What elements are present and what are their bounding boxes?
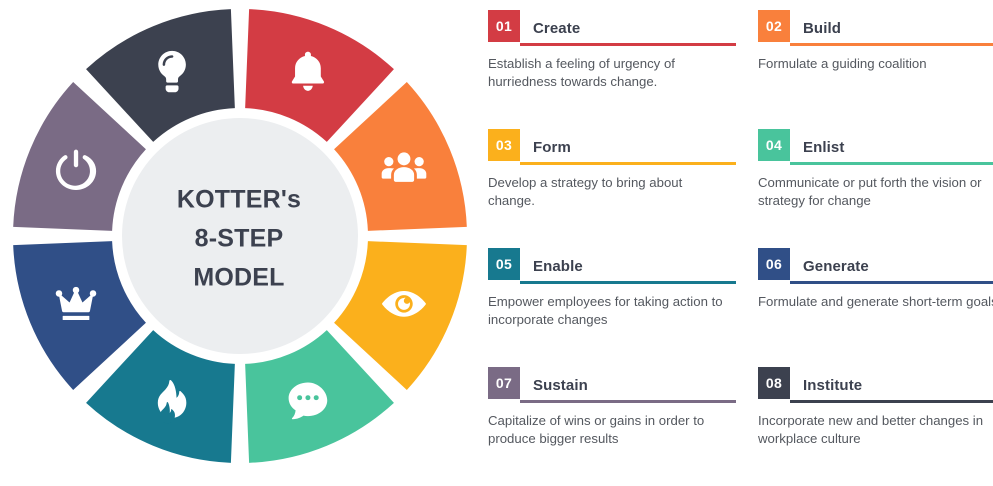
step-underline [520,400,736,403]
step-number-badge: 02 [758,10,790,42]
step-header: 07Sustain [488,367,736,403]
step-title-wrap: Enable [520,248,736,284]
step-title: Generate [803,258,869,275]
step-underline [520,162,736,165]
step-description: Establish a feeling of urgency of hurrie… [488,55,731,91]
step-item[interactable]: 07SustainCapitalize of wins or gains in … [488,367,758,486]
step-title-wrap: Institute [790,367,993,403]
step-description: Formulate and generate short-term goals [758,293,993,311]
step-title: Enable [533,258,583,275]
step-title: Sustain [533,377,588,394]
step-item[interactable]: 06GenerateFormulate and generate short-t… [758,248,993,367]
step-title-wrap: Build [790,10,993,46]
step-title-wrap: Enlist [790,129,993,165]
step-number-badge: 07 [488,367,520,399]
step-underline [790,281,993,284]
step-underline [790,400,993,403]
step-number-badge: 03 [488,129,520,161]
step-header: 05Enable [488,248,736,284]
step-description: Formulate a guiding coalition [758,55,993,73]
donut-chart [7,3,473,469]
step-number-badge: 08 [758,367,790,399]
step-item[interactable]: 02BuildFormulate a guiding coalition [758,10,993,129]
step-number-badge: 06 [758,248,790,280]
step-title-wrap: Generate [790,248,993,284]
step-title-wrap: Form [520,129,736,165]
step-number-badge: 01 [488,10,520,42]
steps-list: 01CreateEstablish a feeling of urgency o… [478,0,993,478]
step-title: Build [803,20,841,37]
step-header: 04Enlist [758,129,993,165]
step-underline [520,281,736,284]
step-description: Capitalize of wins or gains in order to … [488,412,731,448]
infographic-page: KOTTER's 8-STEP MODEL 01CreateEstablish … [0,0,993,478]
step-title: Enlist [803,139,844,156]
kotter-wheel-pane: KOTTER's 8-STEP MODEL [0,0,478,478]
step-number-badge: 04 [758,129,790,161]
step-description: Communicate or put forth the vision or s… [758,174,993,210]
step-item[interactable]: 08InstituteIncorporate new and better ch… [758,367,993,486]
step-title: Form [533,139,571,156]
step-header: 03Form [488,129,736,165]
step-description: Empower employees for taking action to i… [488,293,731,329]
step-description: Develop a strategy to bring about change… [488,174,731,210]
step-underline [790,43,993,46]
step-title-wrap: Sustain [520,367,736,403]
step-item[interactable]: 01CreateEstablish a feeling of urgency o… [488,10,758,129]
step-title: Create [533,20,580,37]
step-header: 01Create [488,10,736,46]
step-item[interactable]: 05EnableEmpower employees for taking act… [488,248,758,367]
step-underline [520,43,736,46]
step-item[interactable]: 03FormDevelop a strategy to bring about … [488,129,758,248]
center-disc [122,118,358,354]
step-header: 02Build [758,10,993,46]
step-underline [790,162,993,165]
step-header: 06Generate [758,248,993,284]
step-header: 08Institute [758,367,993,403]
step-item[interactable]: 04EnlistCommunicate or put forth the vis… [758,129,993,248]
step-description: Incorporate new and better changes in wo… [758,412,993,448]
step-number-badge: 05 [488,248,520,280]
step-title: Institute [803,377,862,394]
step-title-wrap: Create [520,10,736,46]
